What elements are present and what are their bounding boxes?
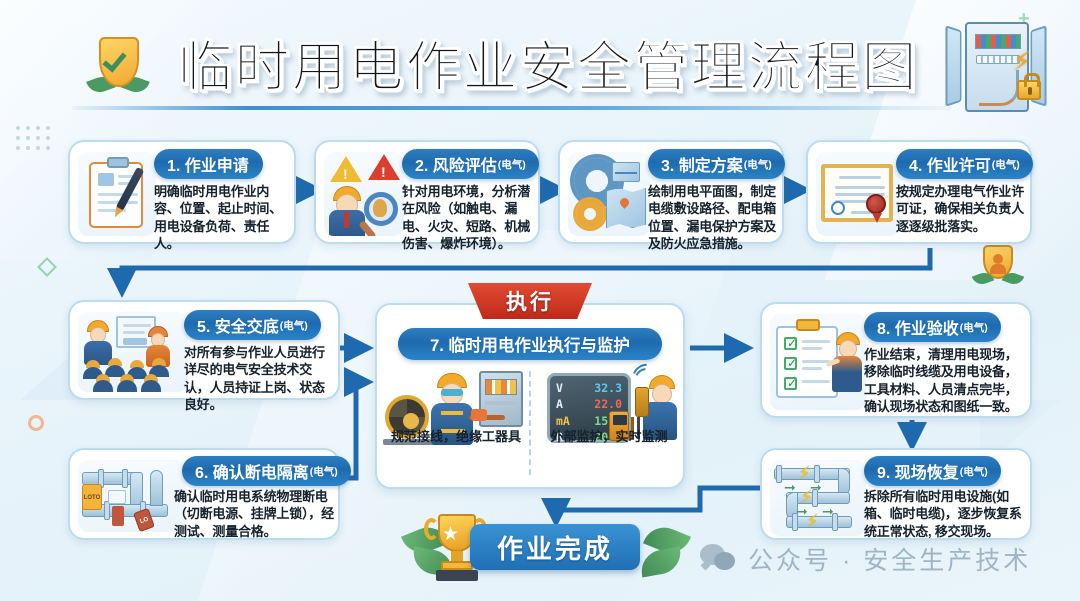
step-badge-2: 2. 风险评估(电气) [402,149,539,179]
title-underline [72,106,952,110]
certificate-icon [816,152,900,236]
step-badge-suffix-9: (电气) [960,464,988,479]
step-desc-5: 对所有参与作业人员进行详尽的电气安全技术交认，人员持证上岗、状态良好。 [184,344,334,413]
risk-inspector-icon: ! ! [324,152,404,236]
step-card-1[interactable]: 1. 作业申请 明确临时用电作业内容、位置、起止时间、用电设备负荷、责任人。 [68,140,296,244]
step-badge-label-1: 1. 作业申请 [167,152,249,176]
step-desc-8: 作业结束，清理用电现场，移除临时线缆及用电设备，工具材料、人员清点完毕，确认现场… [864,346,1026,415]
step-badge-label-9: 9. 现场恢复 [877,459,959,483]
execution-badge: 7. 临时用电作业执行与监护 [398,328,662,360]
wechat-footer-label: 公众号 · 安全生产技术 [748,541,1031,577]
loto-pipe-icon: LOTO LO [78,460,186,532]
step-badge-label-2: 2. 风险评估 [415,152,497,176]
safety-briefing-icon [78,312,188,392]
step-card-9[interactable]: ⚡ ⚡ ⚡ ➞ ➞ ➞ ➞ 9. 现场恢复(电气) 拆除所有临时用电设施(如箱、… [760,448,1032,540]
ring-decor-1 [28,415,44,431]
step-badge-label-3: 3. 制定方案 [661,152,743,176]
step-badge-suffix-3: (电气) [744,157,772,172]
meter-unit-1: A [556,396,563,412]
diamond-decor-1 [37,257,57,277]
infographic-canvas: + 临时用电作业安全管理流程图 ⚡ [0,0,1080,601]
step-badge-suffix-5: (电气) [280,318,308,333]
step-card-2[interactable]: ! ! 2. 风险评估(电气) 针对用电环境，分析潜在风险（如触电、漏电、火灾、… [314,140,540,244]
step-badge-suffix-2: (电气) [498,157,526,172]
gear-map-icon [568,152,650,236]
execution-ribbon: 执行 [468,283,592,319]
step-desc-2: 针对用电环境，分析潜在风险（如触电、漏电、火灾、短路、机械伤害、爆炸环境）。 [402,183,536,252]
step-badge-9: 9. 现场恢复(电气) [864,456,1001,486]
step-card-3[interactable]: 3. 制定方案(电气) 绘制用电平面图，制定电缆敷设路径、配电箱位置、漏电保护方… [558,140,784,244]
acceptance-checklist-icon [770,314,866,410]
laurel-leaf-icon [638,547,684,578]
step-badge-3: 3. 制定方案(电气) [648,149,785,179]
remote-monitoring-icon: V32.3 A22.0 mA15.0 R20.0 外部监护，实时监测 [535,367,683,455]
header: 临时用电作业安全管理流程图 ⚡ [0,0,1080,125]
dot-grid-left [16,126,56,156]
step-badge-suffix-8: (电气) [960,320,988,335]
step-card-8[interactable]: 8. 作业验收(电气) 作业结束，清理用电现场，移除临时线缆及用电设备，工具材料… [760,302,1032,418]
step-badge-8: 8. 作业验收(电气) [864,312,1001,342]
step-desc-9: 拆除所有临时用电设施(如箱、临时电缆)，逐步恢复系统正常状态, 移交现场。 [864,488,1026,540]
execution-left-caption: 规范接线，绝缘工器具 [383,426,529,445]
meter-value-0: 32.3 [594,380,622,396]
wechat-footer: 公众号 · 安全生产技术 [700,541,1031,577]
step-card-6[interactable]: LOTO LO 6. 确认断电隔离(电气) 确认临时用电系统物理断电（切断电源、… [68,448,340,540]
worker-panel-wiring-icon: 规范接线，绝缘工器具 [383,367,529,455]
step-badge-label-4: 4. 作业许可 [909,152,991,176]
wechat-icon [700,544,738,574]
step-desc-6: 确认临时用电系统物理断电（切断电源、挂牌上锁），经测试、测量合格。 [174,488,336,540]
step-card-5[interactable]: 5. 安全交底(电气) 对所有参与作业人员进行详尽的电气安全技术交认，人员持证上… [68,300,340,400]
step-badge-label-5: 5. 安全交底 [197,313,279,337]
step-desc-3: 绘制用电平面图，制定电缆敷设路径、配电箱位置、漏电保护方案及及防火应急措施。 [648,183,780,252]
step-badge-label-6: 6. 确认断电隔离 [195,459,309,483]
step-desc-1: 明确临时用电作业内容、位置、起止时间、用电设备负荷、责任人。 [154,183,290,252]
step-badge-suffix-4: (电气) [992,157,1020,172]
step-badge-4: 4. 作业许可(电气) [896,149,1033,179]
step-badge-5: 5. 安全交底(电气) [184,310,321,340]
clipboard-pen-icon [78,152,156,236]
step-badge-6: 6. 确认断电隔离(电气) [182,456,351,486]
step-badge-label-8: 8. 作业验收 [877,315,959,339]
execution-right-caption: 外部监护，实时监测 [535,426,683,445]
electrical-cabinet-icon: ⚡ [945,22,1053,122]
meter-unit-0: V [556,380,563,396]
execution-divider [529,371,531,475]
step-desc-4: 按规定办理电气作业许可证，确保相关负责人逐逐级批落实。 [896,183,1028,235]
step-badge-suffix-6: (电气) [310,464,338,479]
step-card-4[interactable]: 4. 作业许可(电气) 按规定办理电气作业许可证，确保相关负责人逐逐级批落实。 [806,140,1032,244]
page-title: 临时用电作业安全管理流程图 [168,22,928,102]
shield-badge-decor [975,245,1021,289]
shield-check-icon [88,33,150,105]
completion-banner: 作业完成 [470,524,640,570]
step-badge-1: 1. 作业申请 [154,149,263,179]
restore-pipe-icon: ⚡ ⚡ ⚡ ➞ ➞ ➞ ➞ [770,460,866,536]
